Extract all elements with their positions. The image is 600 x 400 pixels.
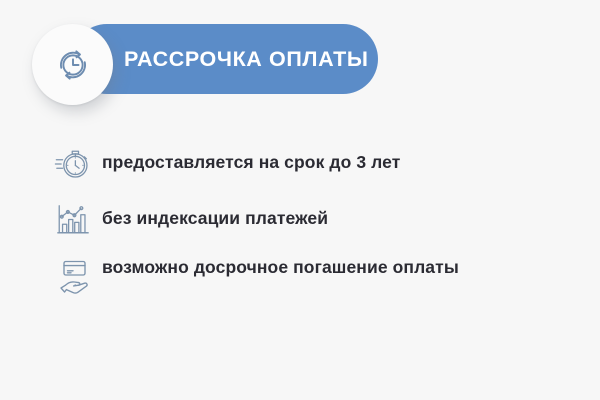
- list-item-label: возможно досрочное погашение оплаты: [102, 255, 459, 279]
- bar-chart-line-icon: [52, 199, 94, 241]
- hand-holding-card-icon: [52, 256, 94, 298]
- header-banner: РАССРОЧКА ОПЛАТЫ: [32, 24, 378, 94]
- stopwatch-icon: [52, 143, 94, 185]
- list-item: без индексации платежей: [52, 199, 522, 241]
- feature-list: предоставляется на срок до 3 лет: [52, 143, 522, 312]
- list-item-label: без индексации платежей: [102, 199, 328, 230]
- slide-canvas: РАССРОЧКА ОПЛАТЫ: [0, 0, 600, 400]
- clock-refresh-icon: [51, 43, 95, 87]
- page-title: РАССРОЧКА ОПЛАТЫ: [124, 46, 374, 72]
- list-item: возможно досрочное погашение оплаты: [52, 255, 522, 298]
- list-item: предоставляется на срок до 3 лет: [52, 143, 522, 185]
- header-badge: [32, 24, 113, 105]
- list-item-label: предоставляется на срок до 3 лет: [102, 143, 400, 174]
